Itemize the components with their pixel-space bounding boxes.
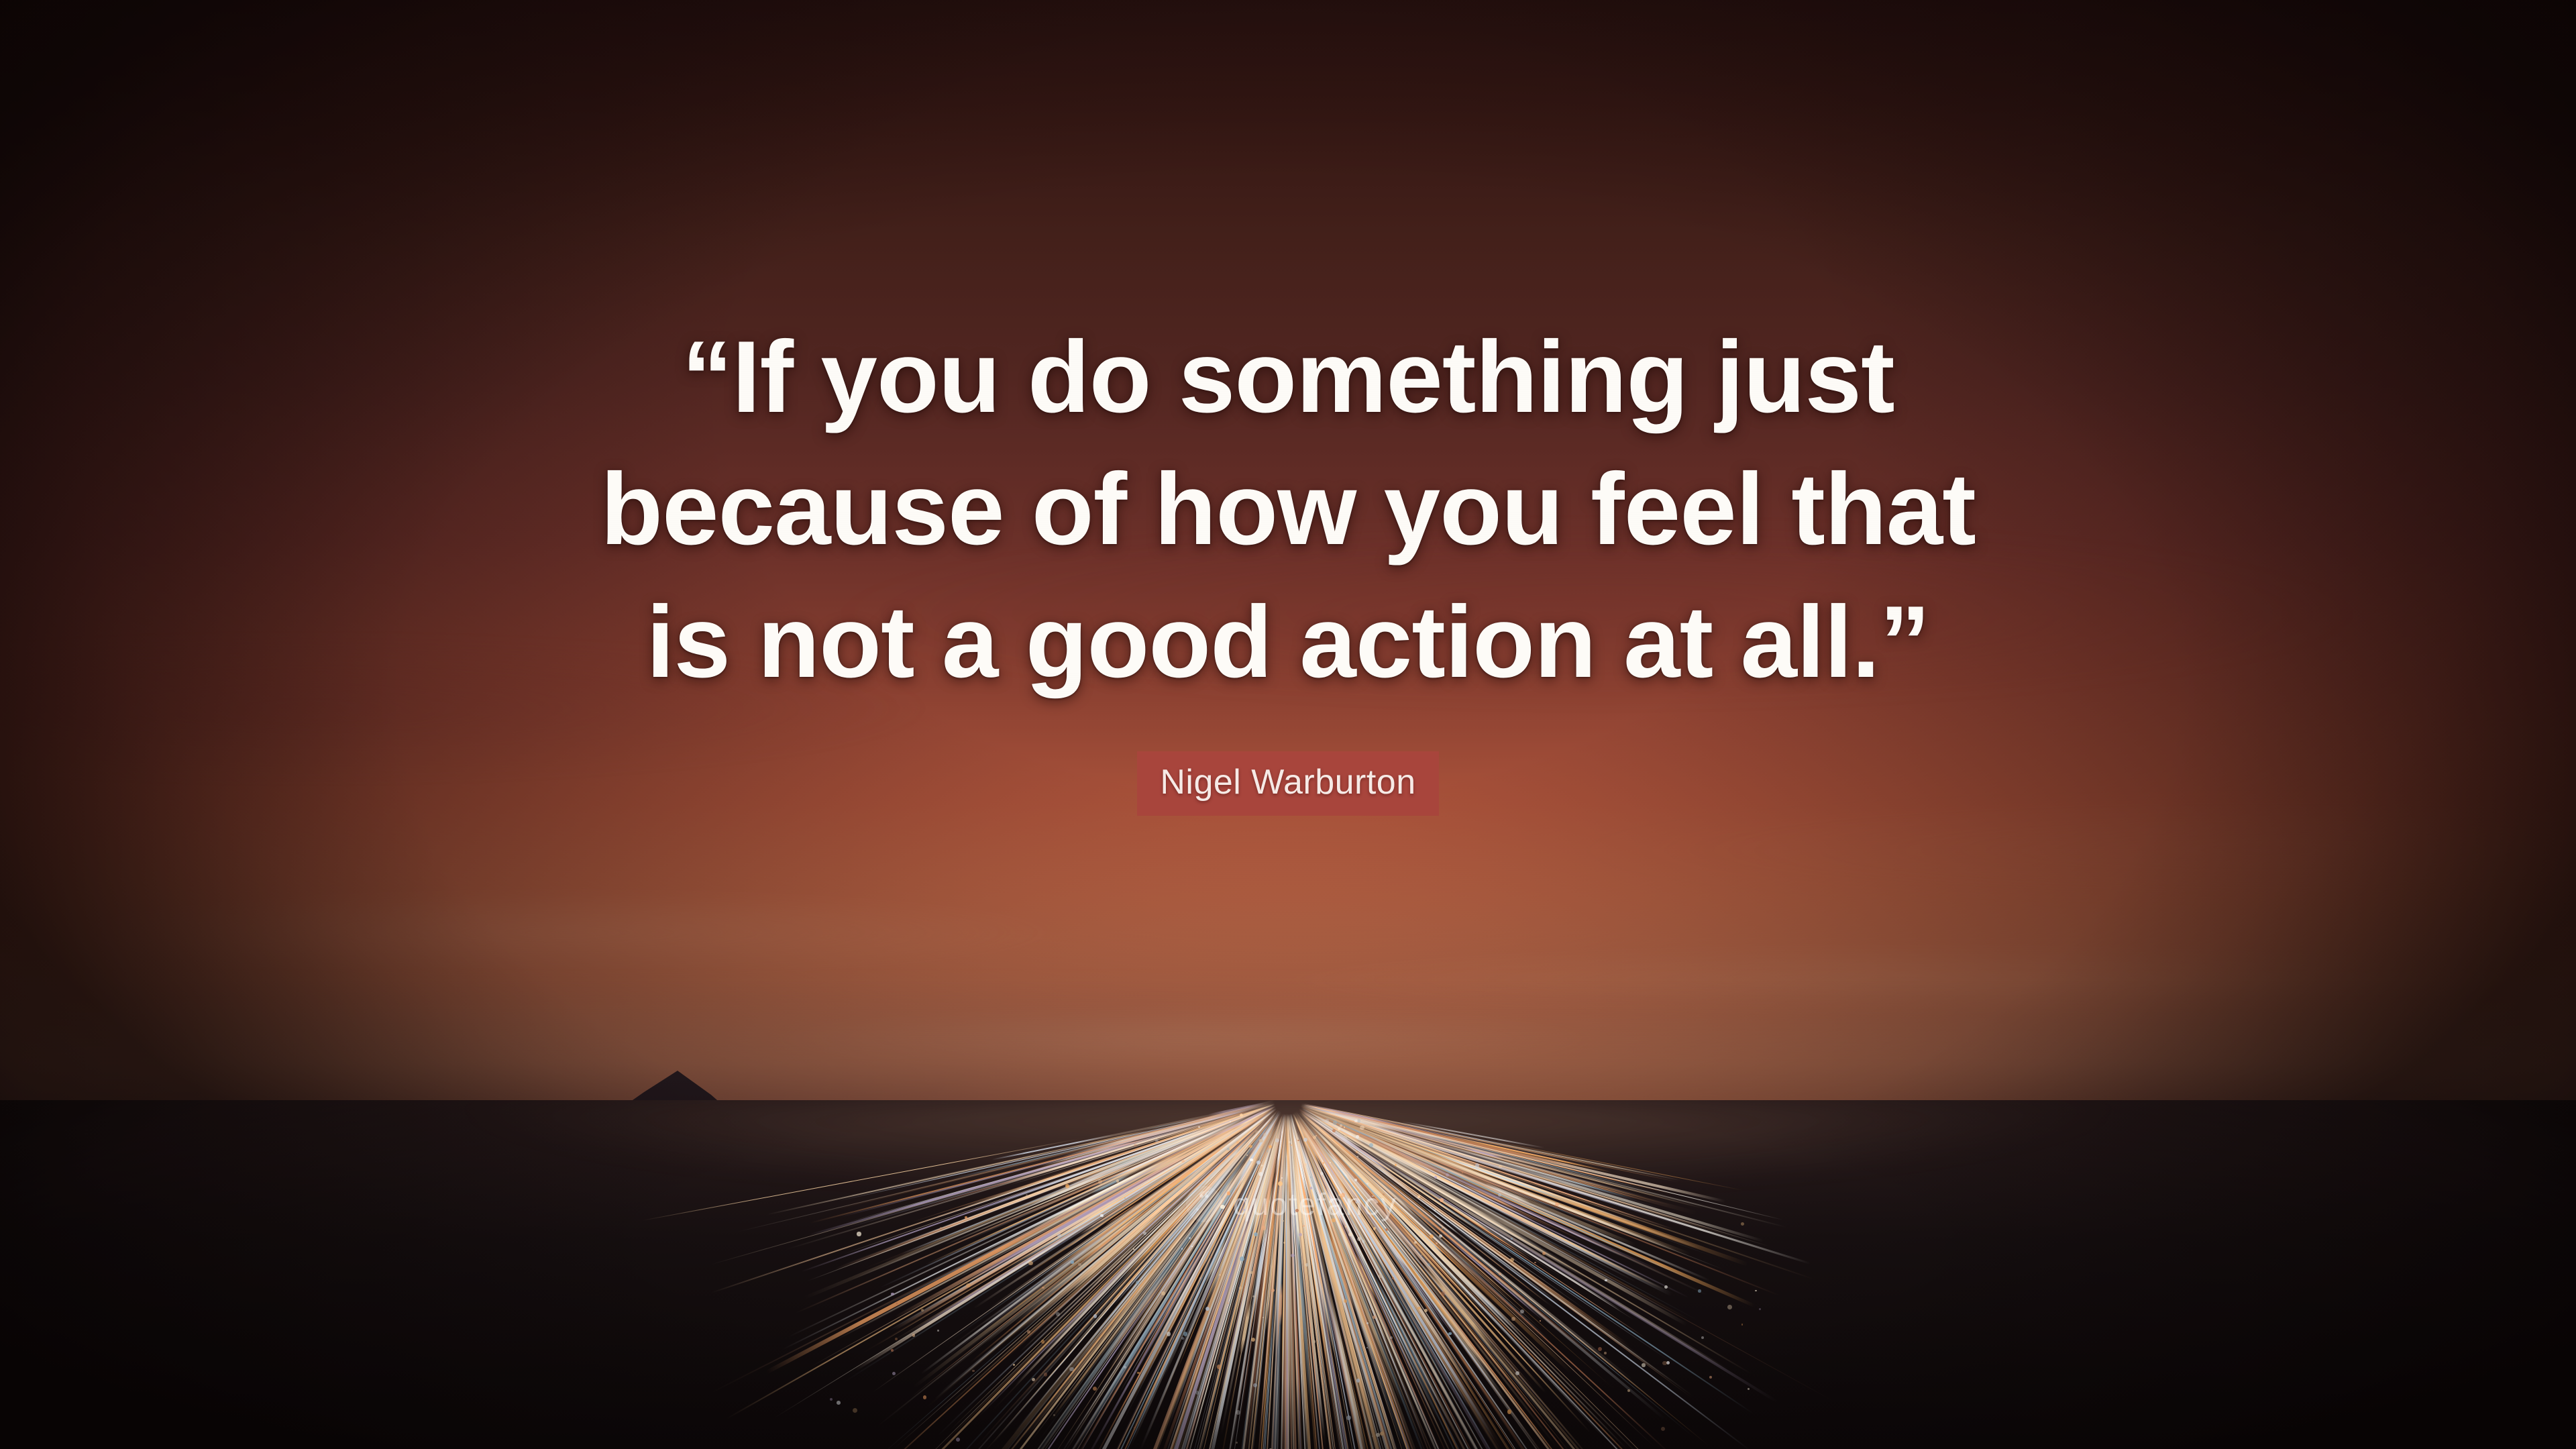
quote-line-3: is not a good action at all.” bbox=[322, 576, 2254, 709]
author-badge: Nigel Warburton bbox=[1137, 751, 1438, 816]
watermark-label: quotefancy bbox=[1233, 1186, 1397, 1222]
quote-line-1: “If you do something just bbox=[322, 311, 2254, 444]
city-light-trails bbox=[0, 1100, 2576, 1449]
quotefancy-watermark[interactable]: “ quotefancy bbox=[1186, 1186, 1397, 1222]
wallpaper-canvas: “If you do something just because of how… bbox=[0, 0, 2576, 1449]
city-vignette bbox=[0, 1100, 2576, 1449]
quote-block: “If you do something just because of how… bbox=[0, 0, 2576, 1046]
quote-mark-logo-icon: “ bbox=[1186, 1186, 1222, 1222]
quote-text: “If you do something just because of how… bbox=[322, 311, 2254, 709]
quote-line-2: because of how you feel that bbox=[322, 443, 2254, 576]
